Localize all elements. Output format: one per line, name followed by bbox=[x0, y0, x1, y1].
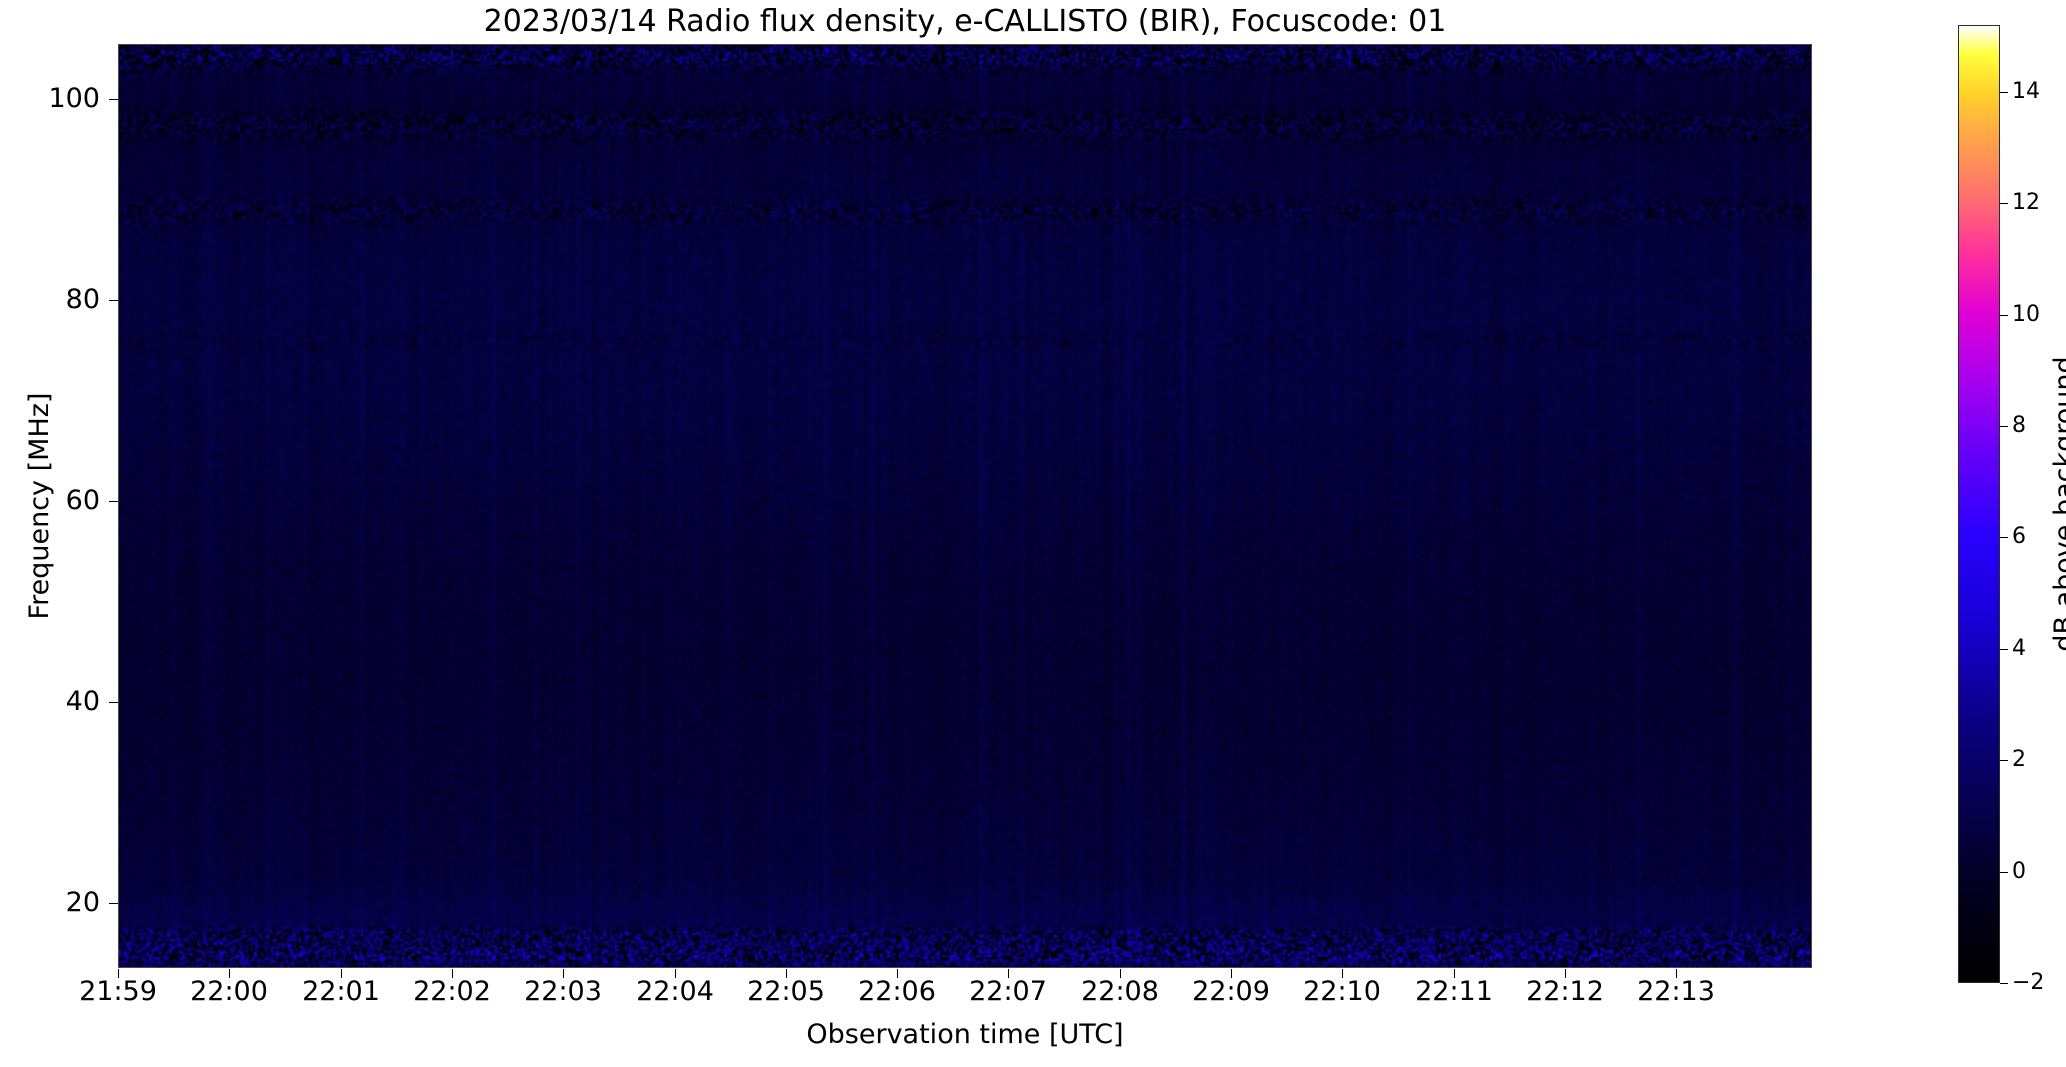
y-tick-label: 20 bbox=[8, 889, 100, 916]
y-tick-mark bbox=[109, 300, 118, 301]
y-tick-mark bbox=[109, 702, 118, 703]
colorbar-tick-label: −2 bbox=[2012, 972, 2044, 994]
y-tick-label: 60 bbox=[8, 487, 100, 514]
y-tick-label: 40 bbox=[8, 688, 100, 715]
y-tick-label: 100 bbox=[8, 85, 100, 112]
colorbar bbox=[1958, 25, 2000, 983]
x-tick-label: 22:00 bbox=[190, 978, 268, 1005]
colorbar-tick-mark bbox=[2000, 315, 2008, 316]
colorbar-tick-mark bbox=[2000, 203, 2008, 204]
spectrogram-image bbox=[119, 45, 1811, 967]
x-tick-label: 22:10 bbox=[1303, 978, 1381, 1005]
x-tick-label: 22:06 bbox=[858, 978, 936, 1005]
y-tick-mark bbox=[109, 903, 118, 904]
x-tick-label: 22:07 bbox=[969, 978, 1047, 1005]
colorbar-tick-label: 10 bbox=[2012, 304, 2040, 326]
colorbar-tick-label: 4 bbox=[2012, 638, 2026, 660]
x-tick-label: 22:12 bbox=[1526, 978, 1604, 1005]
colorbar-tick-mark bbox=[2000, 649, 2008, 650]
colorbar-tick-mark bbox=[2000, 92, 2008, 93]
colorbar-gradient bbox=[1959, 26, 1999, 982]
x-tick-label: 22:05 bbox=[747, 978, 825, 1005]
x-tick-label: 22:11 bbox=[1415, 978, 1493, 1005]
colorbar-tick-label: 8 bbox=[2012, 415, 2026, 437]
x-tick-label: 22:02 bbox=[413, 978, 491, 1005]
colorbar-tick-label: 6 bbox=[2012, 526, 2026, 548]
colorbar-tick-mark bbox=[2000, 983, 2008, 984]
x-tick-label: 22:09 bbox=[1192, 978, 1270, 1005]
colorbar-tick-mark bbox=[2000, 537, 2008, 538]
y-tick-mark bbox=[109, 501, 118, 502]
colorbar-tick-label: 0 bbox=[2012, 861, 2026, 883]
x-tick-label: 22:04 bbox=[636, 978, 714, 1005]
colorbar-tick-label: 12 bbox=[2012, 192, 2040, 214]
x-tick-label: 21:59 bbox=[79, 978, 157, 1005]
y-tick-mark bbox=[109, 99, 118, 100]
x-tick-label: 22:03 bbox=[524, 978, 602, 1005]
x-axis-label: Observation time [UTC] bbox=[118, 1018, 1812, 1052]
colorbar-tick-label: 2 bbox=[2012, 749, 2026, 771]
x-tick-label: 22:01 bbox=[302, 978, 380, 1005]
colorbar-tick-label: 14 bbox=[2012, 81, 2040, 103]
colorbar-tick-mark bbox=[2000, 426, 2008, 427]
y-tick-label: 80 bbox=[8, 286, 100, 313]
page-title: 2023/03/14 Radio flux density, e-CALLIST… bbox=[118, 2, 1812, 42]
colorbar-tick-mark bbox=[2000, 872, 2008, 873]
colorbar-tick-mark bbox=[2000, 760, 2008, 761]
x-tick-label: 22:13 bbox=[1637, 978, 1715, 1005]
spectrogram-axes bbox=[118, 44, 1812, 968]
colorbar-label: dB above background bbox=[2048, 25, 2066, 983]
x-tick-label: 22:08 bbox=[1081, 978, 1159, 1005]
